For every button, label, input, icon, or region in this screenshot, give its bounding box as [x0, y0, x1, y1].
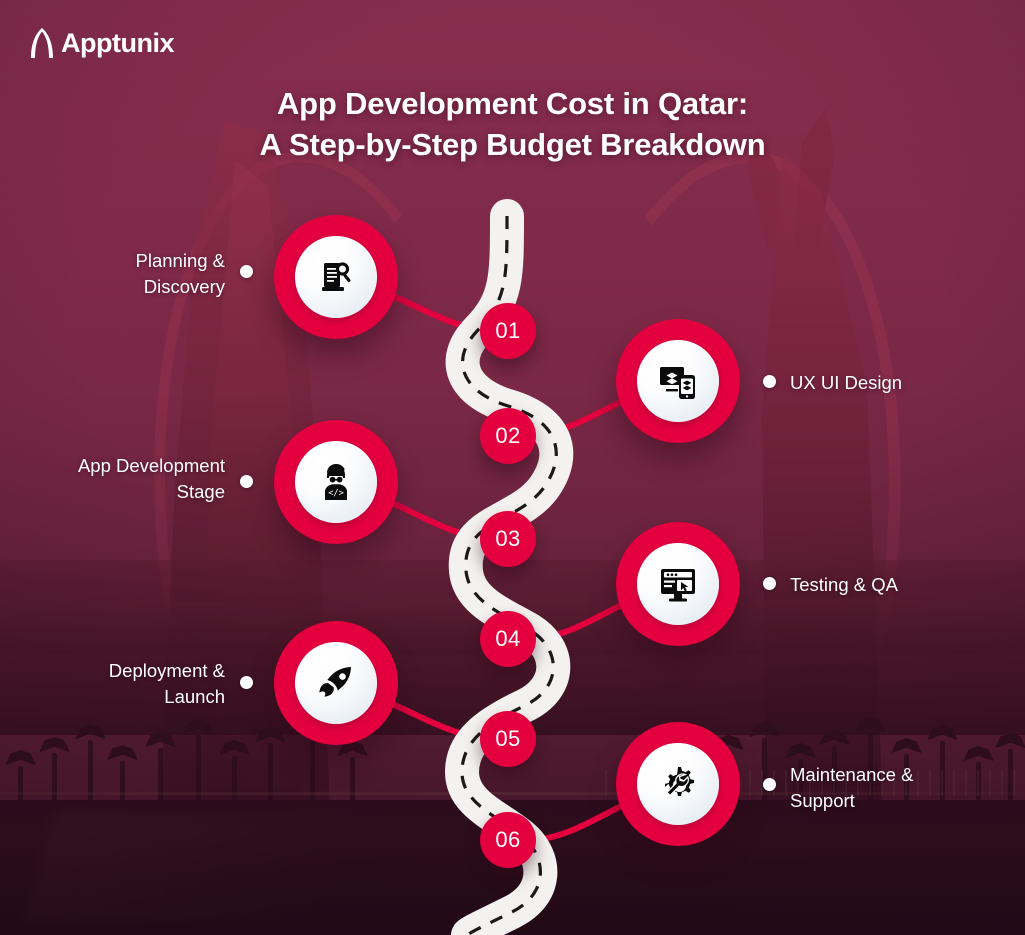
step-badge-04[interactable]: 04 [480, 611, 536, 667]
step-dot-06 [763, 778, 776, 791]
step-dot-05 [240, 676, 253, 689]
step-label-01: Planning & Discovery [40, 248, 225, 301]
node-inner-06 [637, 743, 719, 825]
step-node-02[interactable] [616, 319, 740, 443]
apptunix-arch-logo-icon [28, 26, 56, 60]
responsive-devices-icon [657, 361, 699, 401]
node-inner-03: </> [295, 441, 377, 523]
step-label-02: UX UI Design [790, 370, 1005, 396]
node-inner-04 [637, 543, 719, 625]
step-badge-02[interactable]: 02 [480, 408, 536, 464]
step-label-03: App Development Stage [25, 453, 225, 506]
title-line-1: App Development Cost in Qatar: [277, 86, 748, 121]
node-inner-01 [295, 236, 377, 318]
step-label-05: Deployment & Launch [40, 658, 225, 711]
monitor-cursor-icon [657, 564, 699, 604]
brand-name: Apptunix [61, 30, 174, 57]
svg-text:</>: </> [328, 489, 344, 499]
node-inner-05 [295, 642, 377, 724]
step-badge-05[interactable]: 05 [480, 711, 536, 767]
document-magnifier-icon [316, 257, 356, 297]
step-label-04: Testing & QA [790, 572, 1005, 598]
gear-wrench-icon [657, 763, 699, 805]
rocket-icon [316, 663, 356, 703]
step-node-05[interactable] [274, 621, 398, 745]
step-node-06[interactable] [616, 722, 740, 846]
step-badge-03[interactable]: 03 [480, 511, 536, 567]
page-title: App Development Cost in Qatar: A Step-by… [0, 84, 1025, 166]
title-line-2: A Step-by-Step Budget Breakdown [0, 125, 1025, 166]
step-node-04[interactable] [616, 522, 740, 646]
developer-person-icon: </> [316, 462, 356, 502]
brand-logo[interactable]: Apptunix [28, 26, 174, 60]
node-inner-02 [637, 340, 719, 422]
step-badge-01[interactable]: 01 [480, 303, 536, 359]
step-label-06: Maintenance & Support [790, 762, 1005, 815]
step-dot-02 [763, 375, 776, 388]
step-dot-04 [763, 577, 776, 590]
infographic-canvas: Apptunix App Development Cost in Qatar: … [0, 0, 1025, 935]
step-node-03[interactable]: </> [274, 420, 398, 544]
step-dot-01 [240, 265, 253, 278]
step-dot-03 [240, 475, 253, 488]
step-badge-06[interactable]: 06 [480, 812, 536, 868]
step-node-01[interactable] [274, 215, 398, 339]
